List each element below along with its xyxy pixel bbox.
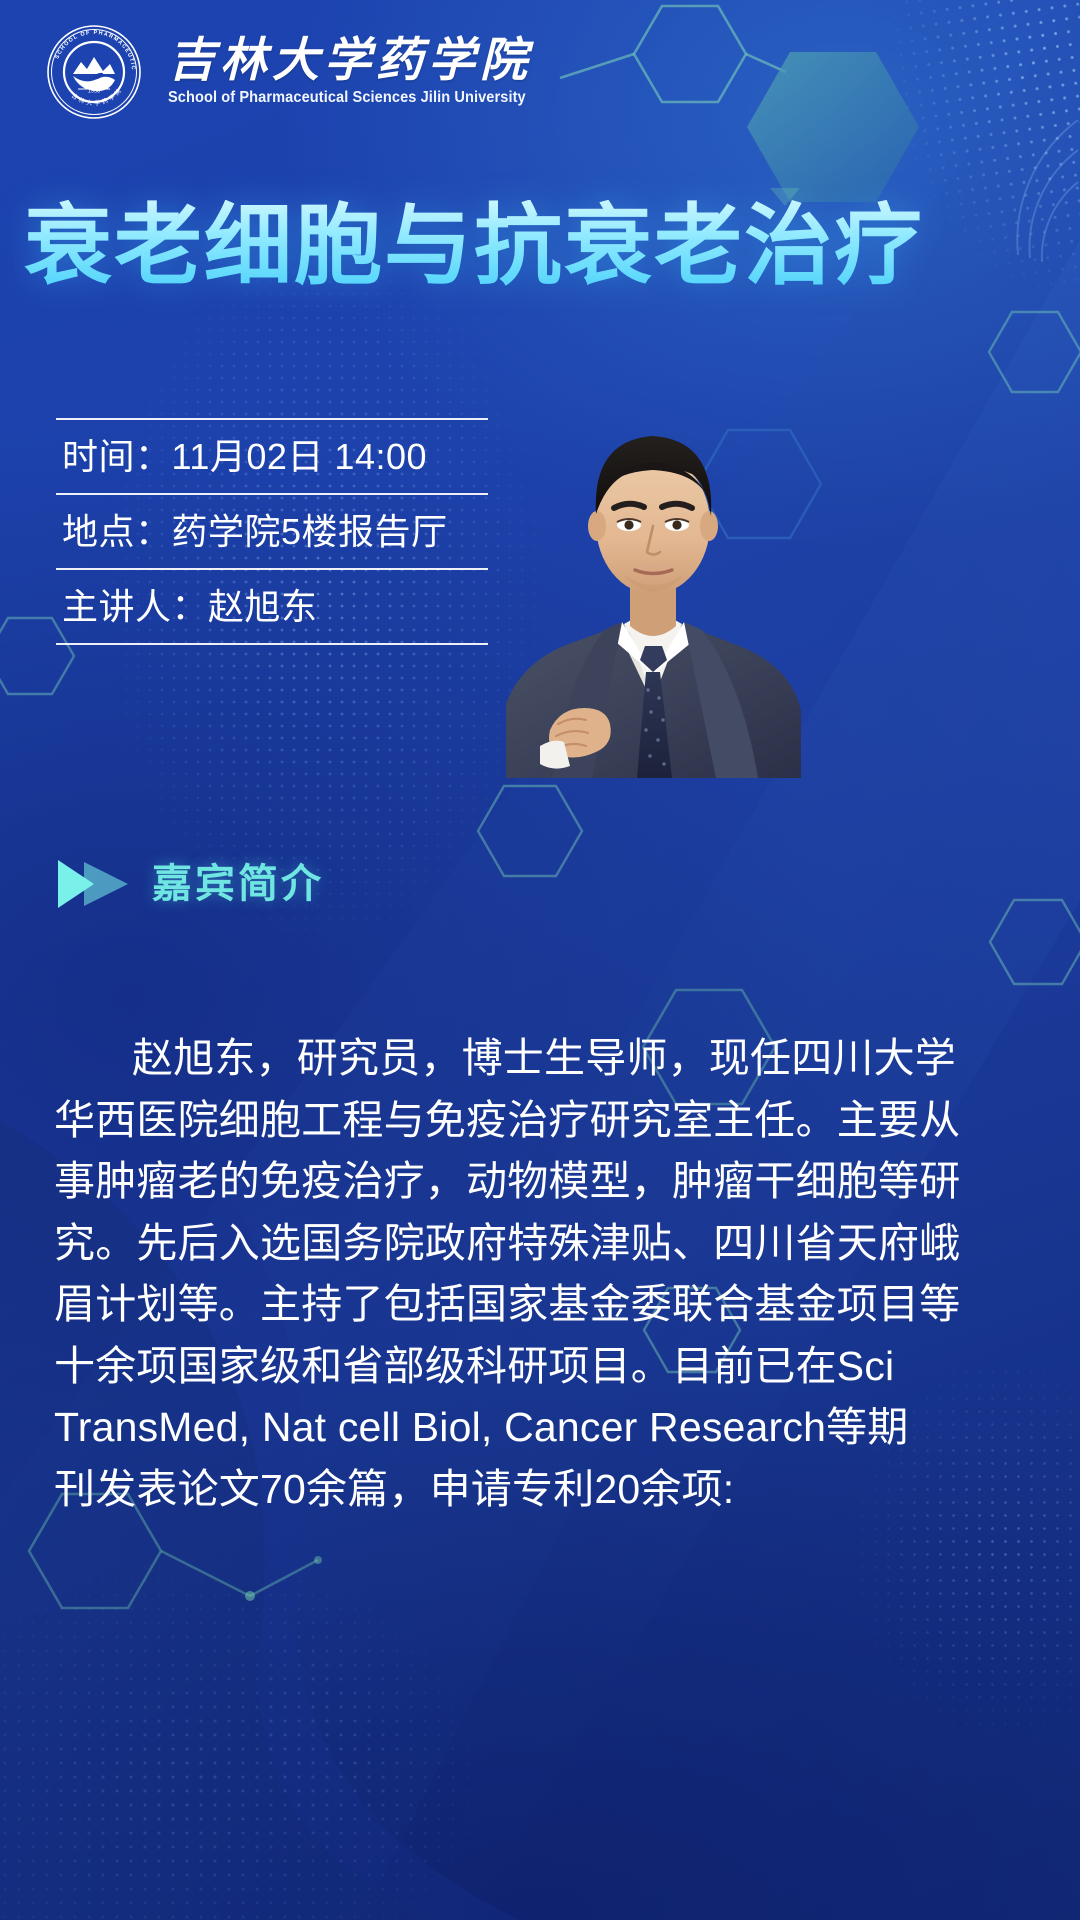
guest-bio-paragraph: 赵旭东，研究员，博士生导师，现任四川大学 华西医院细胞工程与免疫治疗研究室主任。… xyxy=(54,1028,1034,1520)
svg-text:1958: 1958 xyxy=(88,89,100,95)
bio-line: 赵旭东，研究员，博士生导师，现任四川大学 xyxy=(54,1028,1034,1090)
info-row-time: 时间：11月02日 14:00 xyxy=(56,420,488,493)
page-title: 衰老细胞与抗衰老治疗 xyxy=(24,200,924,292)
info-row-location: 地点：药学院5楼报告厅 xyxy=(56,495,488,568)
school-name-cn: 吉林大学药学院 xyxy=(168,37,549,86)
bio-line: 究。先后入选国务院政府特殊津贴、四川省天府峨 xyxy=(54,1213,1034,1275)
jlu-pharmacy-seal-icon: SCHOOL OF PHARMACEUTICAL SCIENCES JILIN … xyxy=(46,24,142,120)
guest-intro-section-header: 嘉宾简介 xyxy=(58,858,324,910)
school-name-en: School of Pharmaceutical Sciences Jilin … xyxy=(168,89,526,107)
bio-line: 刊发表论文70余篇，申请专利20余项: xyxy=(54,1459,1034,1521)
brand-text: 吉林大学药学院 School of Pharmaceutical Science… xyxy=(168,37,549,108)
bio-line: 事肿瘤老的免疫治疗，动物模型，肿瘤干细胞等研 xyxy=(54,1151,1034,1213)
info-row-speaker: 主讲人：赵旭东 xyxy=(56,570,488,643)
divider xyxy=(56,643,488,645)
bio-line: TransMed, Nat cell Biol, Cancer Research… xyxy=(54,1397,1034,1459)
bio-line: 十余项国家级和省部级科研项目。目前已在Sci xyxy=(54,1336,1034,1398)
poster-canvas: SCHOOL OF PHARMACEUTICAL SCIENCES JILIN … xyxy=(0,0,1080,1920)
double-triangle-play-icon xyxy=(58,858,130,910)
bio-line: 华西医院细胞工程与免疫治疗研究室主任。主要从 xyxy=(54,1090,1034,1152)
section-title: 嘉宾简介 xyxy=(152,864,324,904)
bio-line: 眉计划等。主持了包括国家基金委联合基金项目等 xyxy=(54,1274,1034,1336)
event-info-block: 时间：11月02日 14:00 地点：药学院5楼报告厅 主讲人：赵旭东 xyxy=(56,418,488,645)
brand-header: SCHOOL OF PHARMACEUTICAL SCIENCES JILIN … xyxy=(46,24,549,120)
speaker-portrait xyxy=(496,374,808,778)
